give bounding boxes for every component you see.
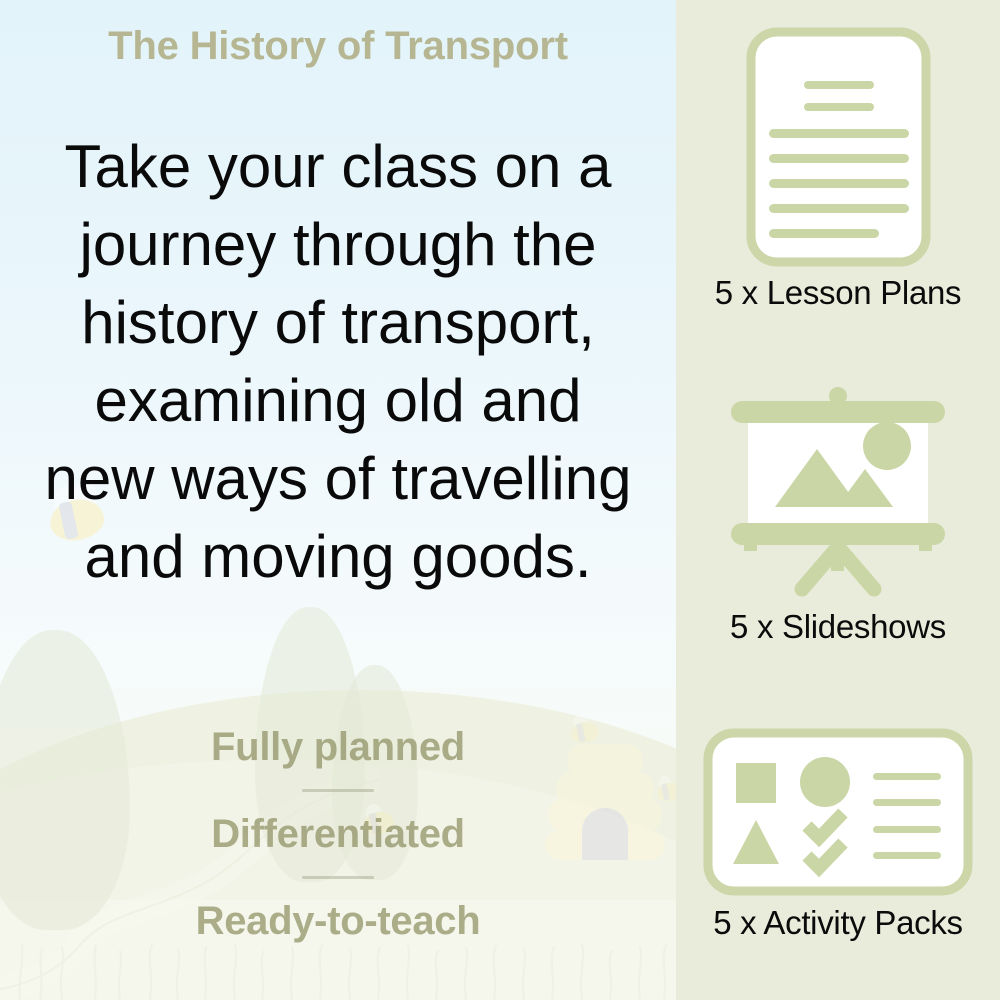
sidebar-item-label: 5 x Activity Packs [676,904,1000,942]
sidebar-item-slideshows[interactable]: 5 x Slideshows [676,386,1000,646]
sidebar-item-activity-packs[interactable]: 5 x Activity Packs [676,722,1000,942]
feature-divider [302,789,374,792]
feature-list: Fully planned Differentiated Ready-to-te… [0,718,676,950]
page-title: The History of Transport [0,24,676,69]
feature-divider [302,876,374,879]
poster-root: The History of Transport Take your class… [0,0,1000,1000]
body-paragraph: Take your class on a journey through the… [38,128,638,596]
presentation-icon-wrap [676,386,1000,606]
document-icon [746,27,931,267]
feature-item-ready-to-teach: Ready-to-teach [0,892,676,950]
sidebar-item-lesson-plans[interactable]: 5 x Lesson Plans [676,22,1000,312]
activity-card-icon [703,728,973,896]
document-icon-wrap [676,22,1000,272]
main-panel: The History of Transport Take your class… [0,0,676,1000]
sidebar-item-label: 5 x Lesson Plans [676,274,1000,312]
activity-icon-wrap [676,722,1000,902]
feature-item-fully-planned: Fully planned [0,718,676,776]
sidebar-item-label: 5 x Slideshows [676,608,1000,646]
resource-sidebar: 5 x Lesson Plans [676,0,1000,1000]
presentation-screen-icon [707,387,969,605]
feature-item-differentiated: Differentiated [0,805,676,863]
